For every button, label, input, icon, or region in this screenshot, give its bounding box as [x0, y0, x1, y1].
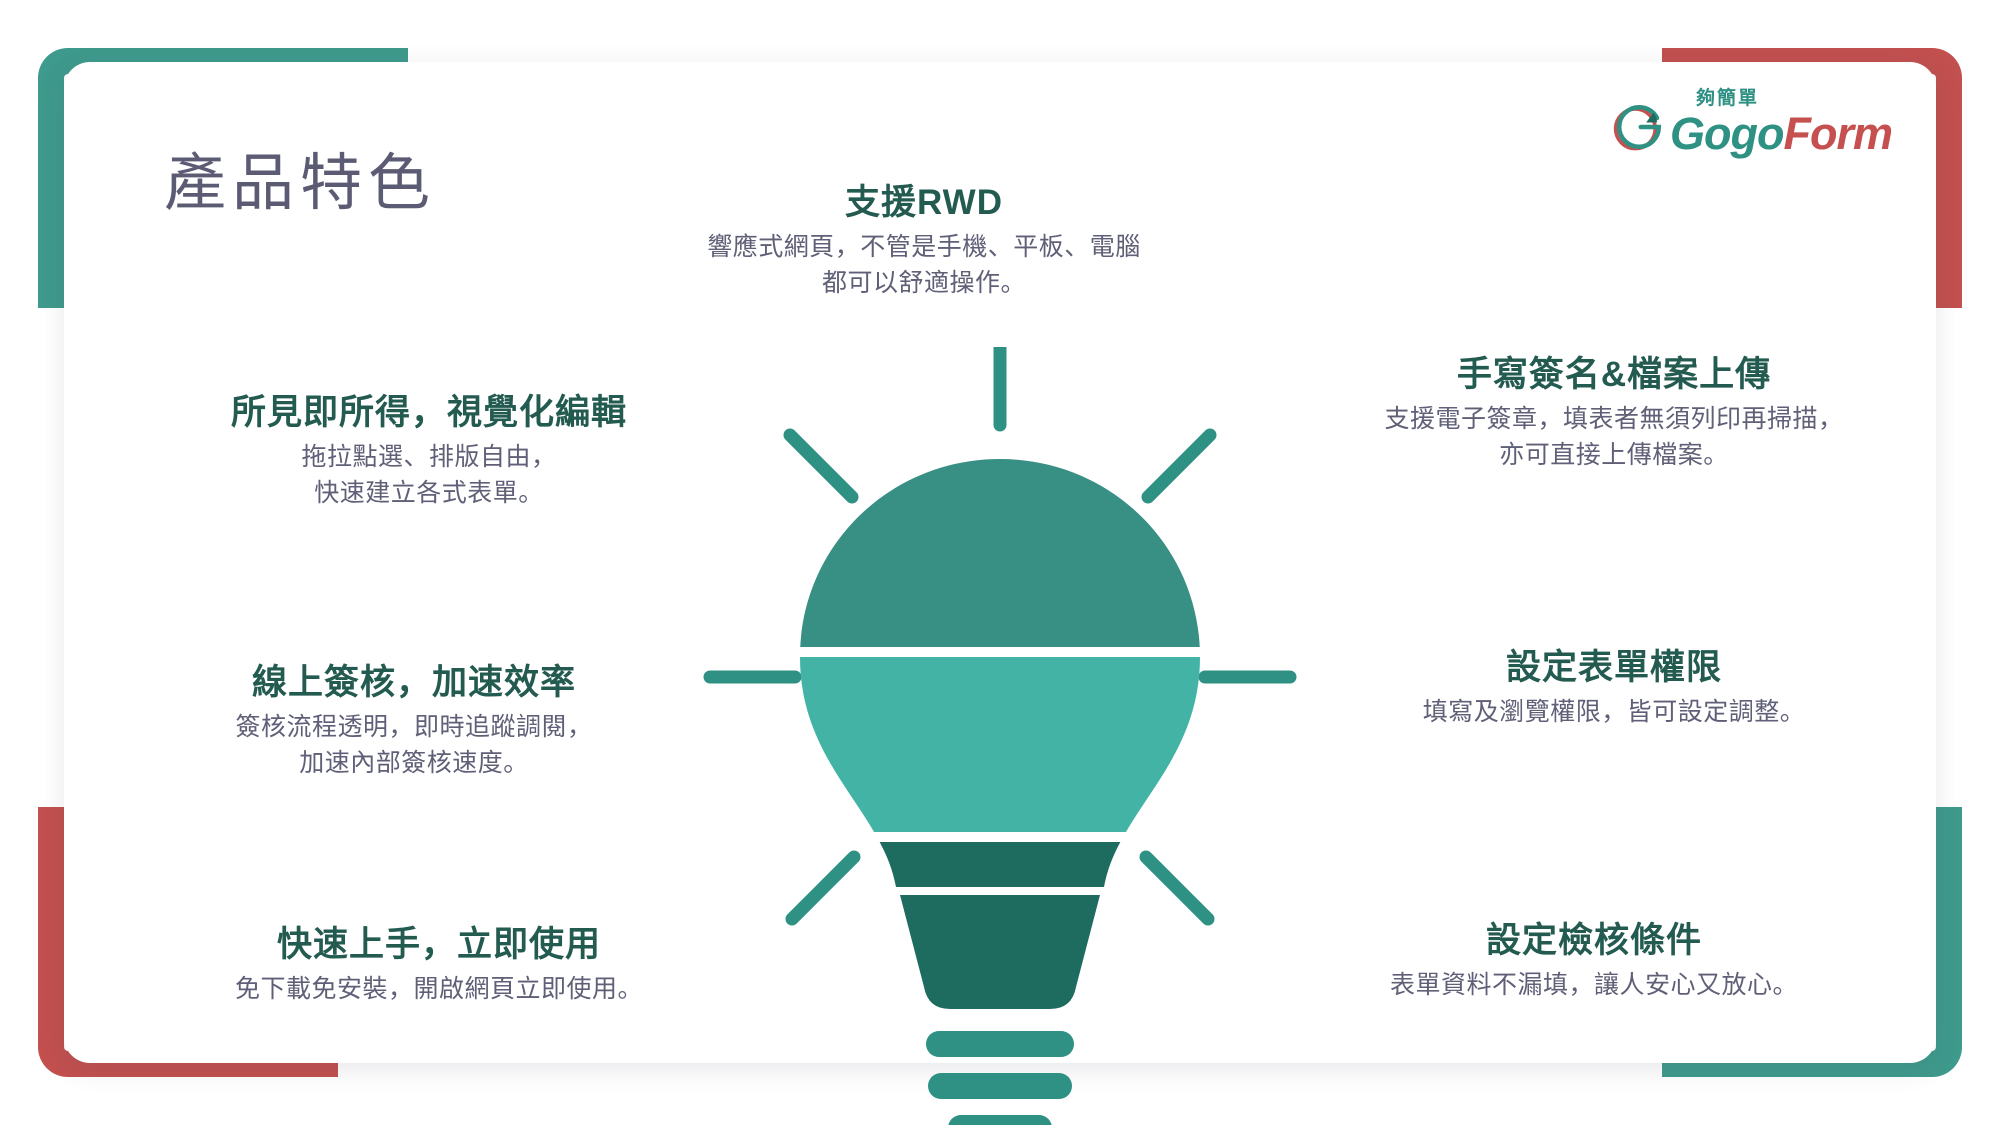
brand-logo: 夠簡單 GogoForm — [1612, 100, 1892, 156]
feature-form-permission-title: 設定表單權限 — [1334, 647, 1894, 689]
content-card: 產品特色 夠簡單 GogoForm — [64, 62, 1936, 1063]
brand-logo-text: 夠簡單 GogoForm — [1670, 111, 1892, 156]
feature-signature-upload-title: 手寫簽名&檔案上傳 — [1319, 354, 1909, 396]
feature-validation-rules: 設定檢核條件 表單資料不漏填，讓人安心又放心。 — [1314, 920, 1874, 1004]
brand-name-secondary: Form — [1784, 108, 1893, 159]
lightbulb-icon — [700, 347, 1300, 1125]
page-title: 產品特色 — [164, 132, 436, 222]
feature-form-permission-desc: 填寫及瀏覽權限，皆可設定調整。 — [1334, 695, 1894, 731]
bulb-base — [900, 895, 1100, 1009]
feature-signature-upload: 手寫簽名&檔案上傳 支援電子簽章，填表者無須列印再掃描，亦可直接上傳檔案。 — [1319, 354, 1909, 473]
feature-validation-rules-title: 設定檢核條件 — [1314, 920, 1874, 962]
feature-quick-start-title: 快速上手，立即使用 — [159, 924, 719, 966]
feature-quick-start-desc: 免下載免安裝，開啟網頁立即使用。 — [159, 972, 719, 1008]
feature-online-approval-desc: 簽核流程透明，即時追蹤調閱，加速內部簽核速度。 — [144, 710, 684, 781]
feature-validation-rules-desc: 表單資料不漏填，讓人安心又放心。 — [1314, 968, 1874, 1004]
feature-form-permission: 設定表單權限 填寫及瀏覽權限，皆可設定調整。 — [1334, 647, 1894, 731]
feature-rwd-title: 支援RWD — [619, 182, 1229, 224]
gogoform-g-logo-icon — [1612, 100, 1666, 154]
brand-name-primary: Gogo — [1670, 108, 1783, 159]
feature-wysiwyg-desc: 拖拉點選、排版自由，快速建立各式表單。 — [159, 440, 699, 511]
feature-rwd-desc: 響應式網頁，不管是手機、平板、電腦都可以舒適操作。 — [619, 230, 1229, 301]
feature-quick-start: 快速上手，立即使用 免下載免安裝，開啟網頁立即使用。 — [159, 924, 719, 1008]
slide-canvas: 產品特色 夠簡單 GogoForm — [0, 0, 2000, 1125]
bulb-base-bars — [926, 1031, 1074, 1125]
bulb-glass — [780, 447, 1220, 912]
feature-rwd: 支援RWD 響應式網頁，不管是手機、平板、電腦都可以舒適操作。 — [619, 182, 1229, 301]
feature-wysiwyg: 所見即所得，視覺化編輯 拖拉點選、排版自由，快速建立各式表單。 — [159, 392, 699, 511]
feature-online-approval-title: 線上簽核，加速效率 — [144, 662, 684, 704]
lightbulb-illustration — [700, 347, 1300, 1125]
brand-tagline: 夠簡單 — [1696, 89, 1759, 108]
feature-online-approval: 線上簽核，加速效率 簽核流程透明，即時追蹤調閱，加速內部簽核速度。 — [144, 662, 684, 781]
feature-wysiwyg-title: 所見即所得，視覺化編輯 — [159, 392, 699, 434]
feature-signature-upload-desc: 支援電子簽章，填表者無須列印再掃描，亦可直接上傳檔案。 — [1319, 402, 1909, 473]
